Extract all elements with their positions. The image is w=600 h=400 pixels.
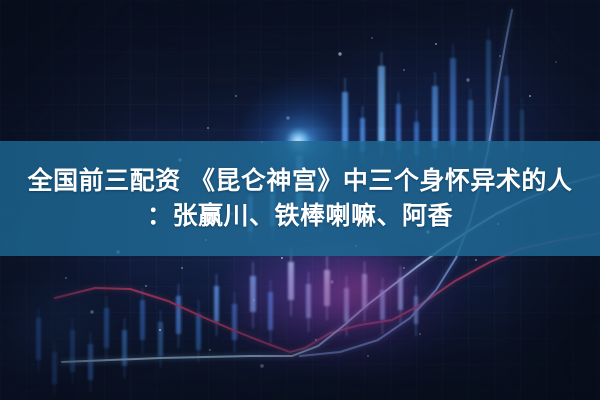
headline-band: 全国前三配资 《昆仑神宫》中三个身怀异术的人 ：张赢川、铁棒喇嘛、阿香: [0, 141, 600, 256]
glow-magenta: [300, 250, 420, 330]
glow-left: [0, 270, 120, 390]
headline-line-2: ：张赢川、铁棒喇嘛、阿香: [147, 199, 453, 234]
headline-line-1: 全国前三配资 《昆仑神宫》中三个身怀异术的人: [28, 164, 573, 199]
poster-canvas: 全国前三配资 《昆仑神宫》中三个身怀异术的人 ：张赢川、铁棒喇嘛、阿香: [0, 0, 600, 400]
